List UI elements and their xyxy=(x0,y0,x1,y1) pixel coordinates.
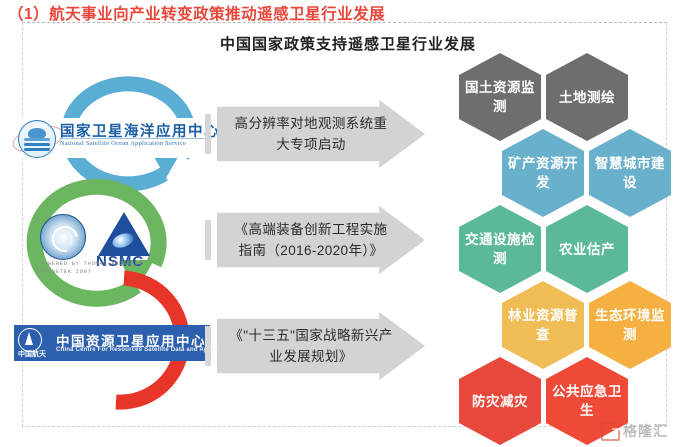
logo-en-line1: POWERED BY THOMAS ANDERSON xyxy=(40,260,143,267)
application-label: 农业估产 xyxy=(555,240,619,259)
policy-label-2: 《高端装备创新工程实施指南（2016-2020年）》 xyxy=(229,206,393,274)
policy-label-3: 《"十三五"国家战略新兴产业发展规划》 xyxy=(229,312,393,380)
casc-mark-icon: 中国航天 xyxy=(18,328,48,358)
watermark-text: 格隆汇 xyxy=(623,421,668,441)
application-label: 防灾减灾 xyxy=(468,392,532,411)
cloud-swirl-inner-icon xyxy=(57,231,73,247)
logo-en-name: POWERED BY THOMAS ANDERSON SHINETEK 2007 xyxy=(40,260,143,276)
arrow-tail-bar xyxy=(205,326,211,366)
application-label: 土地测绘 xyxy=(555,88,619,107)
globe-icon xyxy=(28,128,46,139)
gelonghui-logo-icon xyxy=(601,422,620,441)
arrow-tail-bar xyxy=(205,220,211,260)
arrow-tail-bar xyxy=(205,114,211,154)
slide-canvas: （1）航天事业向产业转变政策推动遥感卫星行业发展 中国国家政策支持遥感卫星行业发… xyxy=(0,0,678,447)
logo-en-line2: SHINETEK 2007 xyxy=(40,268,91,275)
ocean-badge-icon xyxy=(18,120,56,158)
application-label: 公共应急卫生 xyxy=(546,382,628,420)
casc-mark-label: 中国航天 xyxy=(18,349,46,359)
logo-divider xyxy=(60,138,208,139)
logo-nsmc: NSMC POWERED BY THOMAS ANDERSON SHINETEK… xyxy=(40,212,190,272)
diagram-title: 中国国家政策支持遥感卫星行业发展 xyxy=(0,33,678,54)
nsmc-triangle-icon xyxy=(98,212,150,258)
application-label: 国土资源监测 xyxy=(459,78,541,116)
watermark: 格隆汇 xyxy=(601,421,668,441)
policy-label-1: 高分辨率对地观测系统重大专项启动 xyxy=(229,100,393,168)
application-label: 交通设施检测 xyxy=(459,230,541,268)
application-label: 智慧城市建设 xyxy=(589,154,671,192)
wave-icon xyxy=(24,148,50,151)
application-label: 林业资源普查 xyxy=(502,306,584,344)
application-label: 矿产资源开发 xyxy=(502,154,584,192)
logo-national-satellite-ocean-application-service: 国家卫星海洋应用中心 National Satellite Ocean Appl… xyxy=(14,118,210,158)
cma-seal-icon xyxy=(40,214,86,260)
application-label: 生态环境监测 xyxy=(589,306,671,344)
page-title: （1）航天事业向产业转变政策推动遥感卫星行业发展 xyxy=(8,2,385,24)
logo-en-name: National Satellite Ocean Application Ser… xyxy=(60,140,186,147)
logo-china-centre-for-resources-satellite: 中国航天 中国资源卫星应用中心 China Centre For Resourc… xyxy=(14,325,210,361)
